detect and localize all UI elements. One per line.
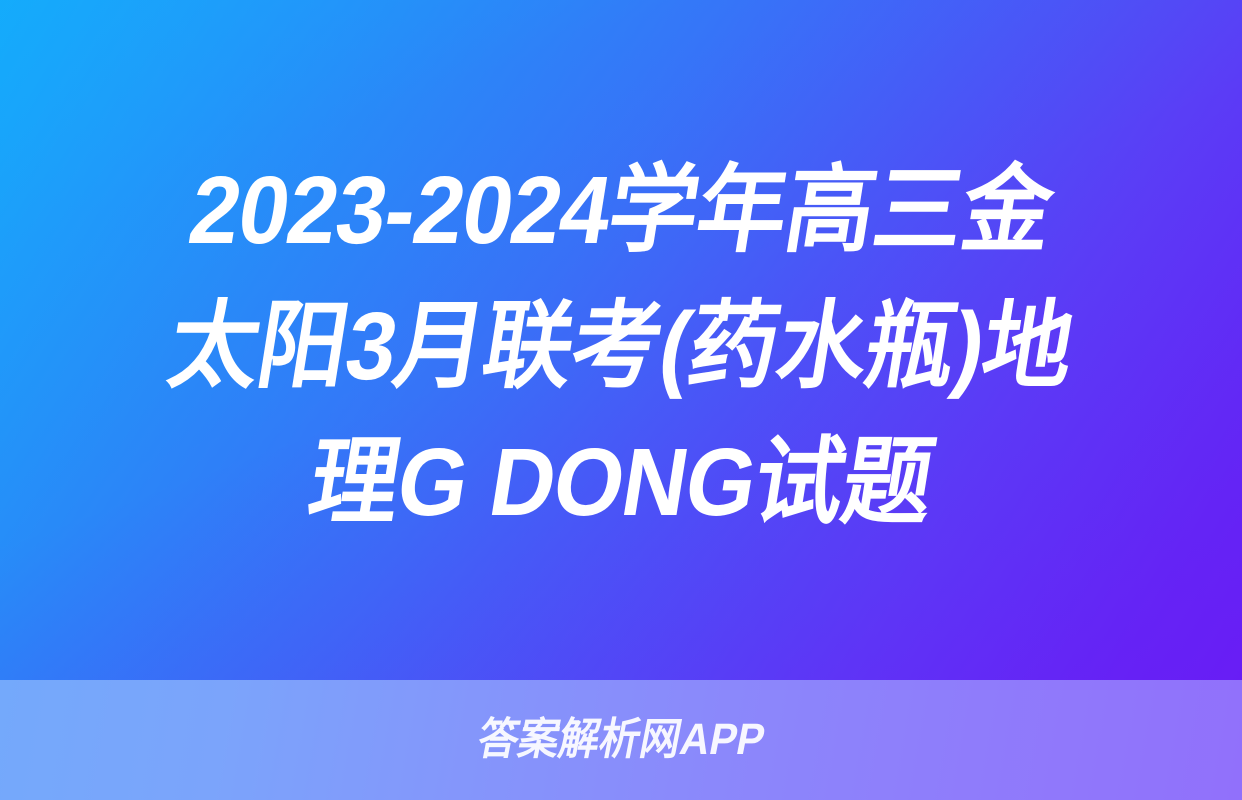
title-line-2: 太阳3月联考(药水瓶)地 [99, 279, 1144, 415]
page-title: 2023-2024学年高三金 太阳3月联考(药水瓶)地 理G DONG试题 [71, 129, 1171, 552]
title-line-3: 理G DONG试题 [99, 415, 1144, 551]
watermark-label: 答案解析网APP [474, 718, 768, 762]
watermark-bar: 答案解析网APP [0, 680, 1242, 800]
title-banner: 2023-2024学年高三金 太阳3月联考(药水瓶)地 理G DONG试题 [0, 0, 1242, 680]
title-line-1: 2023-2024学年高三金 [99, 143, 1144, 279]
poster-card: 2023-2024学年高三金 太阳3月联考(药水瓶)地 理G DONG试题 答案… [0, 0, 1242, 800]
